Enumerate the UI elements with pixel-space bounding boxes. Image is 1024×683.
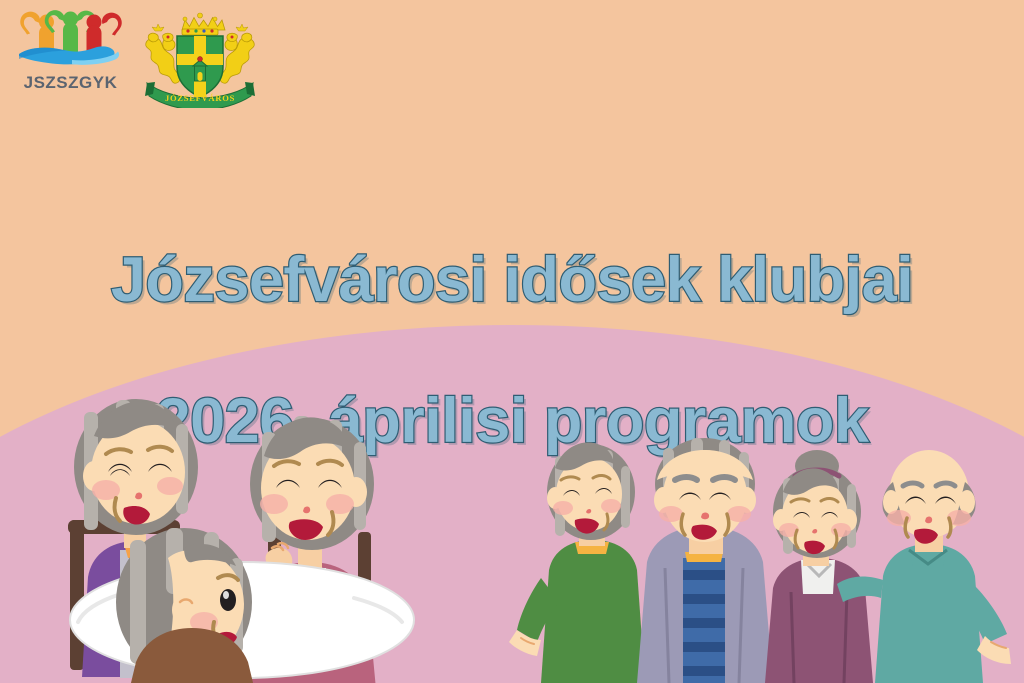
poster-canvas: JSZSZGYK bbox=[0, 0, 1024, 683]
jszszgyk-mark-icon bbox=[18, 8, 123, 72]
senior-man-grey-cardigan bbox=[637, 438, 773, 683]
shield-icon bbox=[177, 36, 223, 97]
title-line-1: Józsefvárosi idősek klubjai bbox=[0, 245, 1024, 316]
senior-woman-plum bbox=[765, 450, 873, 683]
jszszgyk-logo: JSZSZGYK bbox=[18, 8, 123, 93]
jozsefvaros-crest-icon: JÓZSEFVÁROS bbox=[141, 8, 259, 108]
crown-icon bbox=[182, 13, 225, 35]
senior-woman-green bbox=[509, 442, 645, 683]
crest-banner-text: JÓZSEFVÁROS bbox=[165, 93, 235, 103]
logo-row: JSZSZGYK bbox=[18, 8, 259, 108]
illustration-four-seniors-standing bbox=[505, 430, 1024, 683]
jszszgyk-wordmark: JSZSZGYK bbox=[18, 73, 123, 93]
senior-woman-front-back bbox=[116, 528, 254, 683]
illustration-three-seniors-at-table bbox=[32, 372, 452, 683]
